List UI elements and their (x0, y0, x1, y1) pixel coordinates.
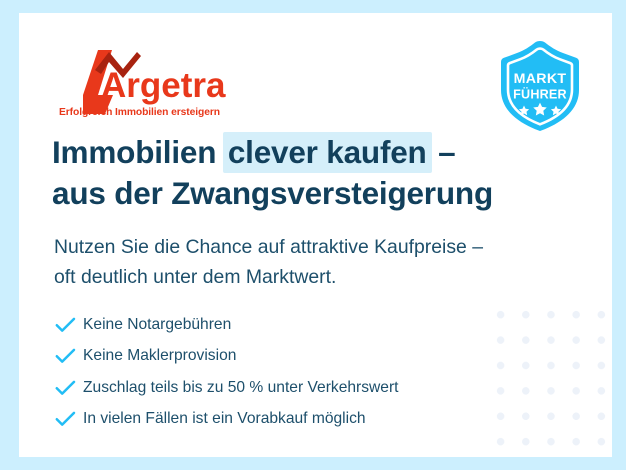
list-item: Zuschlag teils bis zu 50 % unter Verkehr… (55, 372, 525, 404)
badge-line2: FÜHRER (513, 87, 567, 102)
headline-line-1: Immobilien clever kaufen – (52, 133, 582, 171)
headline-line-2: aus der Zwangsversteigerung (52, 174, 582, 212)
headline-text-after: – (430, 134, 456, 170)
badge-line1: MARKT (514, 71, 567, 87)
list-item: Keine Notargebühren (55, 309, 525, 341)
page-title: Immobilien clever kaufen – aus der Zwang… (52, 133, 582, 212)
list-item-label: Zuschlag teils bis zu 50 % unter Verkehr… (83, 378, 398, 398)
subheadline-line-2: oft deutlich unter dem Marktwert. (54, 262, 574, 292)
list-item: In vielen Fällen ist ein Vorabkauf mögli… (55, 404, 525, 436)
promo-banner: Argetra Erfolgreich Immobilien ersteiger… (0, 0, 626, 470)
logo-wordmark: Argetra (101, 66, 226, 105)
list-item-label: Keine Maklerprovision (83, 346, 236, 366)
list-item-label: In vielen Fällen ist ein Vorabkauf mögli… (83, 409, 366, 429)
markt-fuehrer-badge: MARKT FÜHRER (497, 40, 583, 132)
list-item-label: Keine Notargebühren (83, 315, 231, 335)
check-icon (55, 316, 83, 334)
argetra-logo: Argetra Erfolgreich Immobilien ersteiger… (57, 44, 247, 124)
content-card: Argetra Erfolgreich Immobilien ersteiger… (19, 13, 612, 457)
list-item: Keine Maklerprovision (55, 341, 525, 373)
subheadline-line-1: Nutzen Sie die Chance auf attraktive Kau… (54, 232, 574, 262)
headline-highlight: clever kaufen (223, 132, 432, 173)
benefits-list: Keine Notargebühren Keine Maklerprovisio… (55, 309, 525, 435)
check-icon (55, 379, 83, 397)
headline-text-before: Immobilien (52, 134, 225, 170)
check-icon (55, 347, 83, 365)
check-icon (55, 410, 83, 428)
subheadline: Nutzen Sie die Chance auf attraktive Kau… (54, 232, 574, 292)
logo-tagline: Erfolgreich Immobilien ersteigern (59, 107, 220, 118)
